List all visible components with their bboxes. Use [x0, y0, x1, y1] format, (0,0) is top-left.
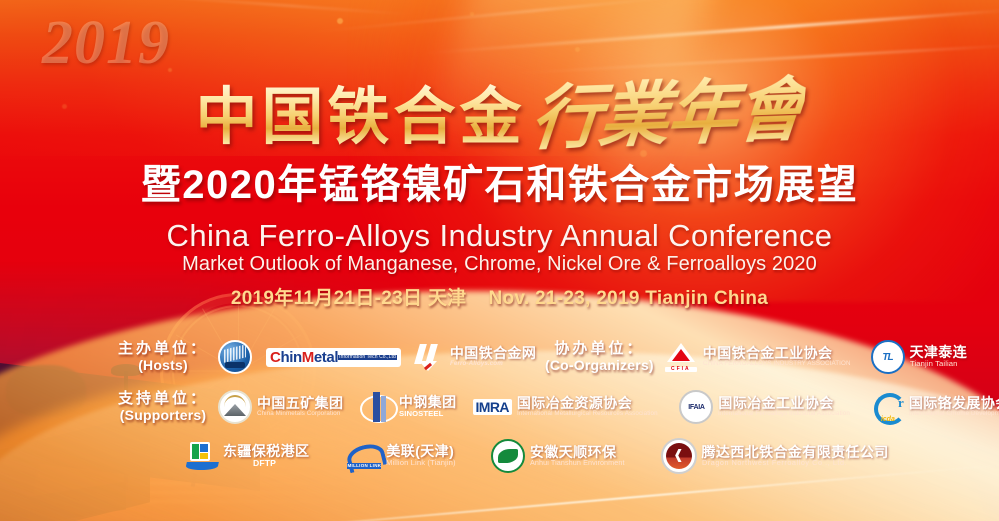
- million-link-icon: MILLION LINK: [347, 443, 381, 469]
- million-link-text: 美联(天津) Million Link (Tianjin): [386, 444, 459, 467]
- imra-icon: IMRA: [473, 399, 512, 415]
- imra-text: 国际冶金资源协会 International Metallurgical Res…: [517, 396, 664, 418]
- logo-sinosteel[interactable]: 中钢集团 SINOSTEEL: [360, 392, 457, 422]
- date-chinese: 2019年11月21日-23日 天津: [231, 288, 467, 309]
- cfia-name-en: CHINA FERROALLOYS INDUSTRY ASSOCIATION: [703, 361, 851, 368]
- logo-million-link[interactable]: MILLION LINK 美联(天津) Million Link (Tianji…: [347, 443, 459, 469]
- dragon-northwest-text: 腾达西北铁合金有限责任公司 Dragon Northwest Ferroallo…: [702, 445, 889, 468]
- logo-cfia[interactable]: CFIA 中国铁合金工业协会 CHINA FERROALLOYS INDUSTR…: [664, 342, 857, 372]
- logo-anhui-tianshun[interactable]: 安徽天顺环保 Anhui Tianshun Environment: [491, 439, 629, 473]
- tianjin-tailian-text: 天津泰连 Tianjin Tailian: [910, 345, 968, 368]
- sinosteel-text: 中钢集团 SINOSTEEL: [399, 395, 457, 418]
- cfia-triangle-icon: CFIA: [664, 342, 698, 372]
- chinmetal-globe-icon: [218, 340, 252, 374]
- cfia-text: 中国铁合金工业协会 CHINA FERROALLOYS INDUSTRY ASS…: [703, 346, 857, 368]
- logo-chinmetal[interactable]: ChinMetal Information Tech Co.,Ltd: [266, 348, 401, 367]
- imra-name-cn: 国际冶金资源协会: [517, 396, 664, 411]
- anhui-tianshun-text: 安徽天顺环保 Anhui Tianshun Environment: [530, 445, 629, 468]
- tianjin-tailian-name-cn: 天津泰连: [910, 345, 968, 360]
- conference-banner: 2019 中国铁合金行業年會 暨2020年锰铬镍矿石和铁合金市场展望 China…: [0, 0, 999, 521]
- icda-icon: ricda: [872, 392, 904, 422]
- dftp-icon: [186, 441, 218, 471]
- ifaia-icon: IFAIA: [679, 390, 713, 424]
- hosts-label: 主办单位： (Hosts): [118, 341, 208, 373]
- logo-ferro-alloys[interactable]: 中国铁合金网 Ferro-Alloys.com: [415, 342, 536, 372]
- co-organizers-label: 协办单位： (Co-Organizers): [545, 341, 654, 373]
- minmetals-text: 中国五矿集团 China Minmetals Corporation: [257, 396, 344, 418]
- supporters-label-cn: 支持单位：: [118, 391, 208, 408]
- logo-imra[interactable]: IMRA 国际冶金资源协会 International Metallurgica…: [473, 396, 664, 418]
- anhui-tianshun-icon: [491, 439, 525, 473]
- ferro-alloys-name-en: Ferro-Alloys.com: [450, 361, 533, 368]
- main-title: 中国铁合金行業年會: [0, 58, 999, 159]
- sponsors-area: 主办单位： (Hosts) ChinMetal Information Tech…: [0, 336, 999, 521]
- dftp-name-cn: 东疆保税港区: [223, 444, 309, 459]
- chinmetal-wordmark-icon: ChinMetal Information Tech Co.,Ltd: [266, 348, 401, 367]
- hosts-label-cn: 主办单位：: [118, 341, 208, 358]
- icda-text: 国际铬发展协会 International Chrome Development…: [909, 396, 999, 418]
- logo-minmetals[interactable]: 中国五矿集团 China Minmetals Corporation: [218, 390, 344, 424]
- main-title-block: 中国铁合金: [195, 83, 525, 152]
- main-title-calligraphy: 行業年會: [527, 53, 809, 163]
- cfia-name-cn: 中国铁合金工业协会: [703, 346, 857, 361]
- minmetals-name-cn: 中国五矿集团: [257, 396, 344, 411]
- dftp-text: 东疆保税港区 DFTP: [223, 444, 309, 468]
- logo-tianjin-tailian[interactable]: TL 天津泰连 Tianjin Tailian: [871, 340, 968, 374]
- dragon-northwest-name-en: Dragon Northwest Ferroalloy Co ., Ltd.: [702, 460, 882, 468]
- million-link-name-en: Million Link (Tianjin): [386, 459, 456, 467]
- ferro-alloys-name-cn: 中国铁合金网: [450, 346, 536, 361]
- logo-icda[interactable]: ricda 国际铬发展协会 International Chrome Devel…: [872, 392, 999, 422]
- icda-name-en: International Chrome Development Associa…: [909, 411, 999, 418]
- supporters-label-en: (Supporters): [118, 408, 208, 424]
- logo-dftp[interactable]: 东疆保税港区 DFTP: [186, 441, 309, 471]
- tianjin-tailian-name-en: Tianjin Tailian: [910, 360, 965, 368]
- million-link-name-cn: 美联(天津): [386, 444, 459, 459]
- ferro-alloys-mark-icon: [415, 342, 445, 372]
- ifaia-name-en: International Ferroalloys Industrial Ass…: [718, 411, 850, 418]
- tianjin-tailian-icon: TL: [871, 340, 905, 374]
- co-organizers-label-en: (Co-Organizers): [545, 358, 654, 374]
- ifaia-name-cn: 国际冶金工业协会: [718, 396, 855, 411]
- logo-dragon-northwest[interactable]: ❰ 腾达西北铁合金有限责任公司 Dragon Northwest Ferroal…: [661, 438, 889, 474]
- sinosteel-name-en: SINOSTEEL: [399, 410, 454, 418]
- dragon-northwest-icon: ❰: [661, 438, 697, 474]
- minmetals-icon: [218, 390, 252, 424]
- logo-chinmetal-globe[interactable]: [218, 340, 252, 374]
- subtitle-chinese: 暨2020年锰铬镍矿石和铁合金市场展望: [0, 152, 999, 210]
- hosts-label-en: (Hosts): [118, 358, 208, 374]
- sinosteel-icon: [360, 392, 394, 422]
- logo-ifaia[interactable]: IFAIA 国际冶金工业协会 International Ferroalloys…: [679, 390, 855, 424]
- sinosteel-name-cn: 中钢集团: [399, 395, 457, 410]
- date-english: Nov. 21-23, 2019 Tianjin China: [488, 288, 768, 309]
- chinmetal-tagline: Information Tech Co.,Ltd: [338, 355, 397, 360]
- co-organizers-label-cn: 协办单位：: [545, 341, 654, 358]
- ferro-alloys-text: 中国铁合金网 Ferro-Alloys.com: [450, 346, 536, 368]
- title-english-secondary: Market Outlook of Manganese, Chrome, Nic…: [0, 253, 999, 276]
- icda-name-cn: 国际铬发展协会: [909, 396, 999, 411]
- dftp-name-en: DFTP: [223, 459, 306, 468]
- supporters-label: 支持单位： (Supporters): [118, 391, 208, 423]
- imra-name-en: International Metallurgical Resources As…: [517, 411, 658, 418]
- date-location-line: 2019年11月21日-23日 天津Nov. 21-23, 2019 Tianj…: [0, 283, 999, 310]
- banner-content: 2019 中国铁合金行業年會 暨2020年锰铬镍矿石和铁合金市场展望 China…: [0, 0, 999, 521]
- ifaia-text: 国际冶金工业协会 International Ferroalloys Indus…: [718, 396, 855, 418]
- anhui-tianshun-name-en: Anhui Tianshun Environment: [530, 460, 625, 468]
- minmetals-name-en: China Minmetals Corporation: [257, 411, 340, 418]
- title-english-primary: China Ferro-Alloys Industry Annual Confe…: [0, 218, 999, 254]
